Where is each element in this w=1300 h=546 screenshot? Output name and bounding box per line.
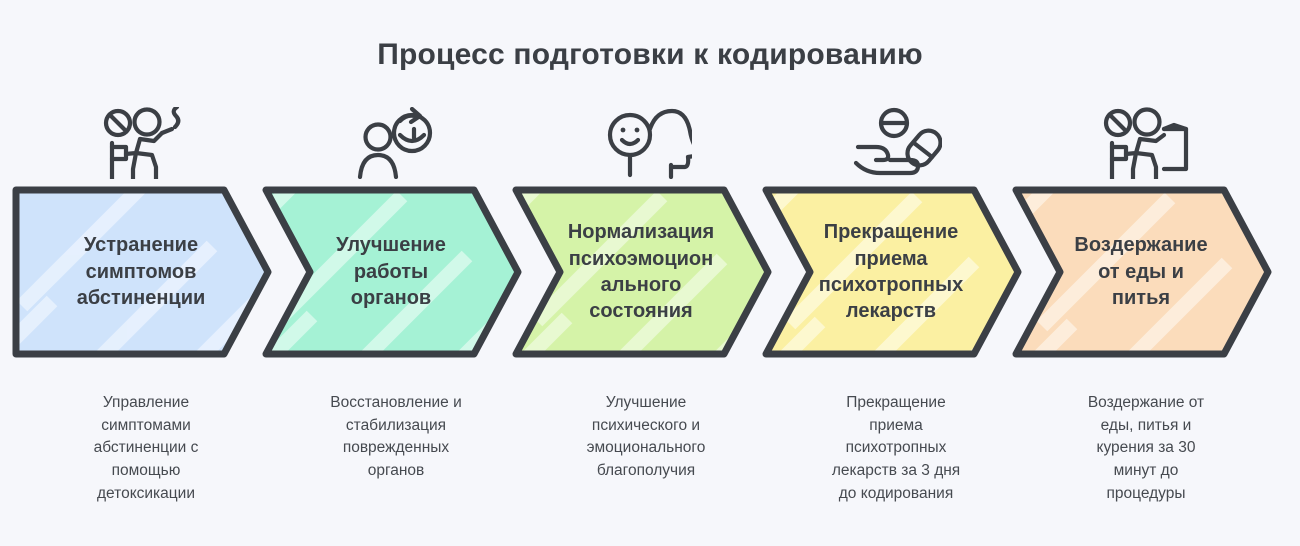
no-eating-person-icon bbox=[1012, 104, 1280, 182]
step-caption: Управление симптомами абстиненции с помо… bbox=[20, 392, 272, 505]
chevron-shape bbox=[12, 186, 280, 358]
step-banner[interactable]: Улучшение работы органов bbox=[262, 186, 530, 358]
step-banner[interactable]: Нормализация психоэмоцион ального состоя… bbox=[512, 186, 780, 358]
process-step[interactable]: Воздержание от еды и питья Воздержание о… bbox=[1012, 104, 1280, 544]
infographic-root: Процесс подготовки к кодированию bbox=[0, 0, 1300, 546]
chevron-shape bbox=[512, 186, 780, 358]
process-step[interactable]: Прекращение приема психотропных лекарств… bbox=[762, 104, 1030, 544]
step-banner[interactable]: Воздержание от еды и питья bbox=[1012, 186, 1280, 358]
process-step[interactable]: Нормализация психоэмоцион ального состоя… bbox=[512, 104, 780, 544]
chevron-shape bbox=[762, 186, 1030, 358]
process-step[interactable]: Улучшение работы органов Восстановление … bbox=[262, 104, 530, 544]
chevron-shape bbox=[1012, 186, 1280, 358]
step-caption: Улучшение психического и эмоционального … bbox=[520, 392, 772, 483]
hand-with-pills-icon bbox=[762, 104, 1030, 182]
no-smoking-person-icon bbox=[12, 104, 280, 182]
process-step[interactable]: Устранение симптомов абстиненции Управле… bbox=[12, 104, 280, 544]
step-banner[interactable]: Устранение симптомов абстиненции bbox=[12, 186, 280, 358]
person-recovery-arrow-icon bbox=[262, 104, 530, 182]
process-steps-row: Устранение симптомов абстиненции Управле… bbox=[0, 104, 1300, 544]
step-banner[interactable]: Прекращение приема психотропных лекарств bbox=[762, 186, 1030, 358]
step-caption: Восстановление и стабилизация поврежденн… bbox=[270, 392, 522, 483]
step-caption: Прекращение приема психотропных лекарств… bbox=[770, 392, 1022, 505]
chevron-shape bbox=[262, 186, 530, 358]
step-caption: Воздержание от еды, питья и курения за 3… bbox=[1020, 392, 1272, 505]
head-smiley-icon bbox=[512, 104, 780, 182]
page-title: Процесс подготовки к кодированию bbox=[0, 38, 1300, 72]
